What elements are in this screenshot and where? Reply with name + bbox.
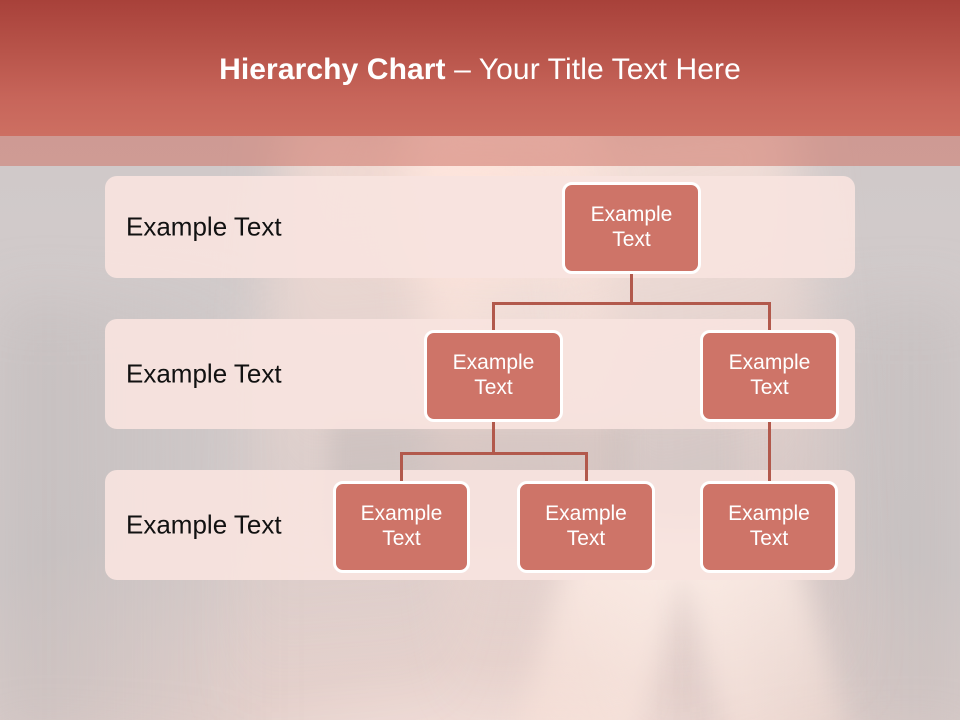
node-level3-three[interactable]: Example Text [700,481,838,573]
level-label-2: Example Text [126,359,282,390]
node-level2-left[interactable]: Example Text [424,330,563,422]
node-level3-two[interactable]: Example Text [517,481,655,573]
level-label-1: Example Text [126,212,282,243]
connector-level3-bus [400,452,588,455]
node-root[interactable]: Example Text [562,182,701,274]
hierarchy-chart: Example Text Example Text Example Text E… [0,0,960,720]
node-level2-right-label: Example Text [703,351,836,401]
level-label-3: Example Text [126,510,282,541]
node-level3-one[interactable]: Example Text [333,481,470,573]
node-level3-one-label: Example Text [336,502,467,552]
node-level2-right[interactable]: Example Text [700,330,839,422]
node-level2-left-label: Example Text [427,351,560,401]
connector-to-l2-left [492,302,495,332]
connector-to-l3-one [400,452,403,483]
connector-level2-bus [492,302,771,305]
connector-to-l2-right [768,302,771,332]
connector-to-l3-two [585,452,588,483]
node-level3-three-label: Example Text [703,502,835,552]
level-band-1: Example Text [105,176,855,278]
node-level3-two-label: Example Text [520,502,652,552]
slide-canvas: Hierarchy Chart – Your Title Text Here E… [0,0,960,720]
connector-root-stem [630,274,633,305]
node-root-label: Example Text [565,203,698,253]
connector-l2-left-stem [492,422,495,455]
connector-to-l3-three [768,422,771,483]
